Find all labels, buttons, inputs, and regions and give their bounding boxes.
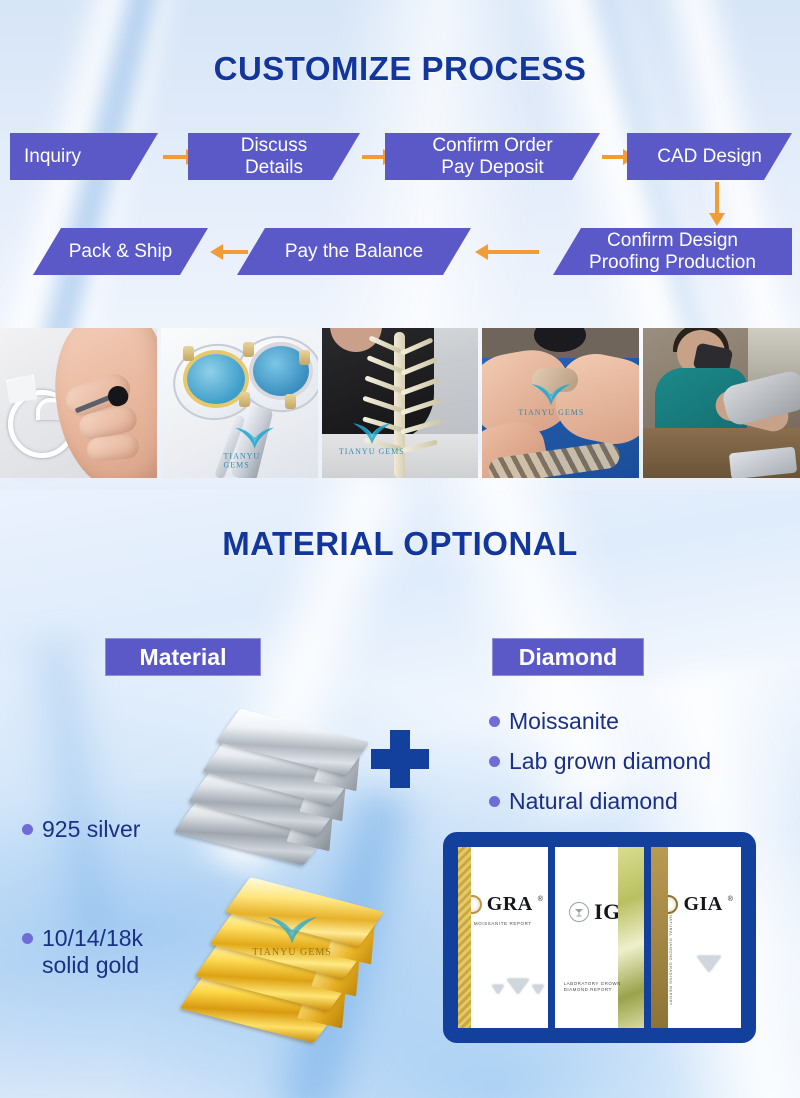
certificates-panel: GRA ® MOISSANITE REPORT IGI [443,832,756,1043]
diamond-icon [532,985,544,994]
list-item-natural-diamond: Natural diamond [489,788,678,815]
photo-jeweler-at-workbench [643,328,800,478]
page-content: CUSTOMIZE PROCESS MATERIAL OPTIONAL Inqu… [0,0,800,1098]
flow-step-confirm-order[interactable]: Confirm Order Pay Deposit [385,133,600,180]
chip-material[interactable]: Material [105,638,261,676]
igi-glyph-icon [573,906,585,918]
cad-peg [299,350,310,365]
certificate-subtitle: MOISSANITE REPORT [474,921,532,926]
page-title-customize-process: CUSTOMIZE PROCESS [0,50,800,88]
flow-arrow-right [602,155,624,159]
hand-shape [549,347,639,451]
cad-peg [239,392,250,407]
list-item-label: 10/14/18k [42,925,143,952]
flow-arrow-right [163,155,187,159]
flow-arrow-right [362,155,384,159]
list-item-label-wrapper: 10/14/18k solid gold [42,925,143,978]
bullet-dot-icon [22,824,33,835]
certificate-gold-edge [458,847,471,1028]
flow-step-label: CAD Design [657,146,762,167]
list-item-moissanite: Moissanite [489,708,619,735]
list-item-925-silver: 925 silver [22,816,140,843]
process-photo-strip: TIANYU GEMS TIA [0,328,800,478]
gold-bars-stack: TIANYU GEMS [182,872,402,1052]
photo-wax-casting-tree: TIANYU GEMS [322,328,479,478]
diamond-icon [492,985,504,994]
registered-mark: ® [538,896,543,903]
flow-step-label: Confirm Order [432,135,552,156]
bullet-dot-icon [489,796,500,807]
photo-hand-drawing-ring-sketch [0,328,157,478]
flow-arrow-down [715,182,719,214]
diamond-icon [697,956,721,989]
flow-step-inquiry[interactable]: Inquiry [10,133,158,180]
flow-step-label: Pay the Balance [285,241,423,262]
flow-step-label: Confirm Design [607,230,738,251]
certificate-logo-row: GIA ® [659,893,732,916]
flow-step-label: Inquiry [24,146,81,167]
list-item-label-line2: solid gold [42,952,143,979]
flow-arrow-left [487,250,539,254]
certificate-gold-edge [651,847,668,1028]
certificate-gem-illustration [492,979,544,994]
cad-peg [183,346,194,361]
flow-step-pay-balance[interactable]: Pay the Balance [237,228,471,275]
cad-peg [243,342,254,357]
silver-bars-stack [176,705,391,880]
list-item-label: Moissanite [509,708,619,735]
flow-step-label-line2: Details [245,157,303,178]
bullet-dot-icon [22,933,33,944]
certificate-brand: GRA [487,893,533,916]
certificate-gia: GIA ® NATURAL DIAMOND GRADING REPORT [651,847,741,1028]
list-item-label: Natural diamond [509,788,678,815]
flow-step-pack-ship[interactable]: Pack & Ship [33,228,208,275]
cad-gem [187,354,245,404]
certificate-brand: GIA [683,893,722,916]
certificate-gem-illustration [697,972,721,990]
flow-step-label-line2: Proofing Production [589,252,756,273]
photo-cad-3d-render-ring: TIANYU GEMS [161,328,318,478]
flow-arrow-left [222,250,248,254]
certificate-foil-edge [618,847,644,1028]
plus-vertical-bar [390,730,410,788]
chip-label: Diamond [519,644,617,671]
list-item-label: Lab grown diamond [509,748,711,775]
registered-mark: ® [728,896,733,903]
cad-peg [285,394,296,409]
bullet-dot-icon [489,756,500,767]
jewelry-piece [532,368,578,392]
certificate-subtitle2: LABORATORY GROWN DIAMOND REPORT [564,981,621,995]
chip-label: Material [140,644,227,671]
flow-step-cad-design[interactable]: CAD Design [627,133,792,180]
list-item-label: 925 silver [42,816,140,843]
flow-step-confirm-design[interactable]: Confirm Design Proofing Production [553,228,792,275]
photo-hands-setting-chain: TIANYU GEMS [482,328,639,478]
flow-step-discuss-details[interactable]: Discuss Details [188,133,360,180]
flow-step-label: Discuss [241,135,308,156]
page-title-material-optional: MATERIAL OPTIONAL [0,525,800,563]
list-item-lab-grown-diamond: Lab grown diamond [489,748,711,775]
diamond-icon [507,979,529,994]
chip-diamond[interactable]: Diamond [492,638,644,676]
igi-seal-icon [569,902,589,922]
flow-step-label: Pack & Ship [69,241,173,262]
bullet-dot-icon [489,716,500,727]
certificate-igi: IGI LABORATORY GROWN DIAMOND REPORT [555,847,645,1028]
list-item-solid-gold: 10/14/18k solid gold [22,925,143,978]
certificate-logo-row: GRA ® [463,893,543,916]
certificate-gra: GRA ® MOISSANITE REPORT [458,847,548,1028]
certificate-vertical-text: NATURAL DIAMOND GRADING REPORT [668,915,673,1006]
flow-step-label-line2: Pay Deposit [441,157,543,178]
